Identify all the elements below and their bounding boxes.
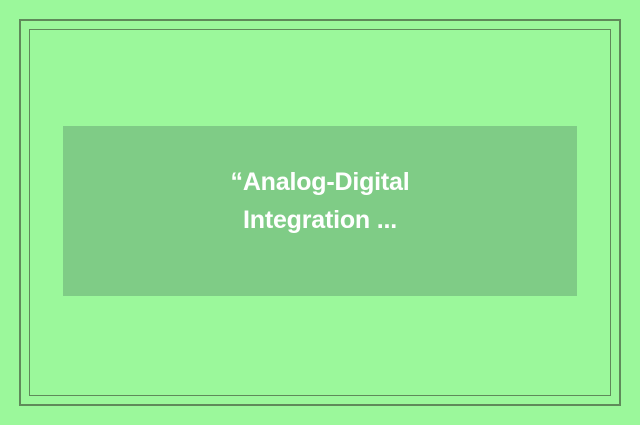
quote-text: “Analog-Digital Integration ...	[63, 163, 577, 239]
quote-panel: “Analog-Digital Integration ...	[63, 126, 577, 296]
slide-canvas: “Analog-Digital Integration ...	[0, 0, 640, 425]
